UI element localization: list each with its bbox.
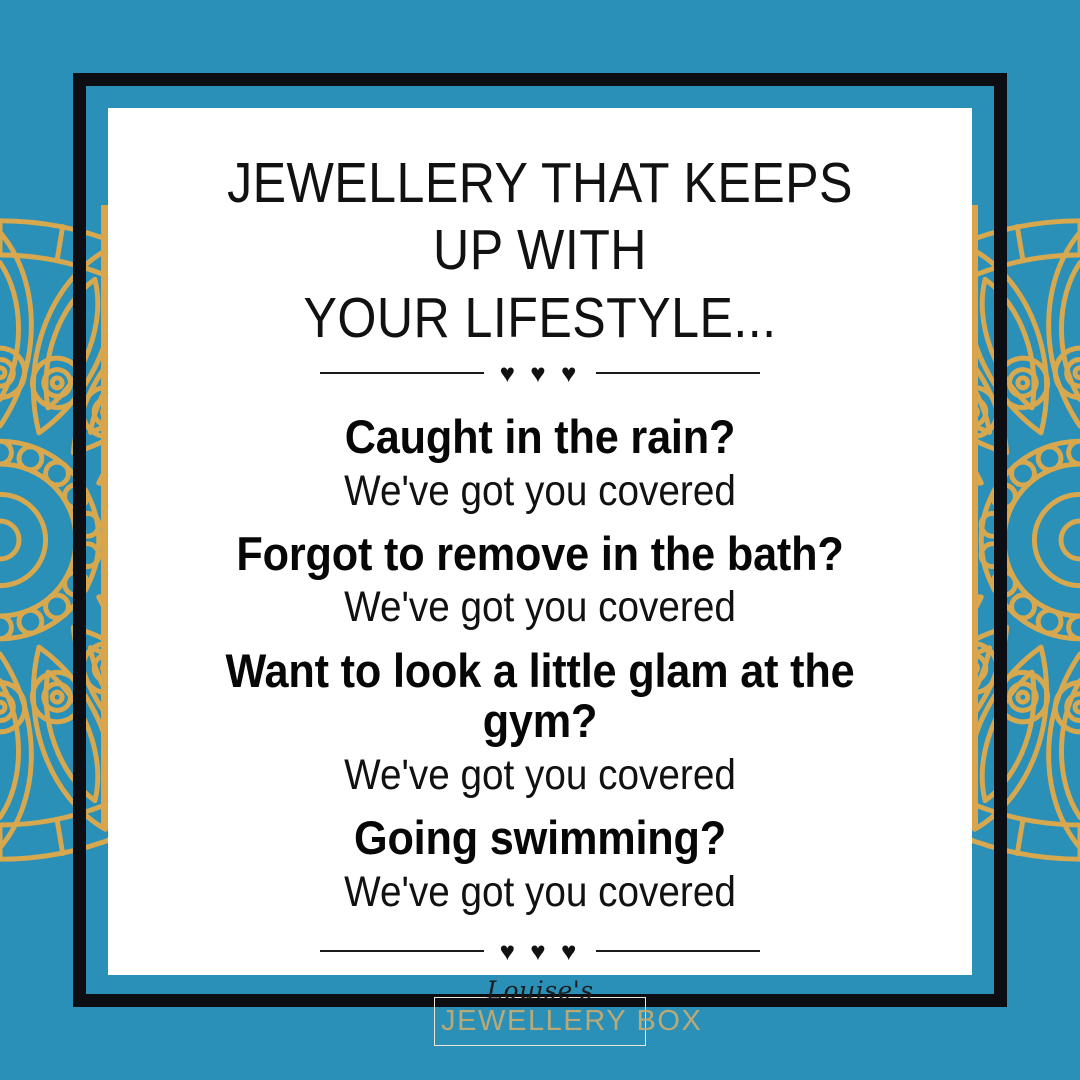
qa-list: Caught in the rain? We've got you covere… [152,412,928,916]
qa-item: Caught in the rain? We've got you covere… [152,412,928,515]
poster-canvas: JEWELLERY THAT KEEPS UP WITH YOUR LIFEST… [0,0,1080,1080]
divider-rule-left [320,372,484,374]
divider-rule-right [596,372,760,374]
qa-answer: We've got you covered [191,583,889,631]
qa-question: Going swimming? [183,813,897,864]
qa-answer: We've got you covered [191,751,889,799]
divider-rule-left [320,950,484,952]
heart-divider-bottom: ♥ ♥ ♥ [320,938,760,964]
content-card: JEWELLERY THAT KEEPS UP WITH YOUR LIFEST… [108,108,972,975]
qa-answer: We've got you covered [191,868,889,916]
qa-item: Forgot to remove in the bath? We've got … [152,529,928,632]
brand-logo: Louise's JEWELLERY BOX [434,974,646,1046]
page-title: JEWELLERY THAT KEEPS UP WITH YOUR LIFEST… [199,150,882,352]
heart-divider-top: ♥ ♥ ♥ [320,360,760,386]
brand-script-name: Louise's [434,978,646,1003]
brand-name: JEWELLERY BOX [441,1007,639,1036]
qa-answer: We've got you covered [191,467,889,515]
qa-item: Want to look a little glam at the gym? W… [152,646,928,800]
qa-question: Want to look a little glam at the gym? [183,646,897,748]
qa-question: Caught in the rain? [183,412,897,463]
heart-icon-group: ♥ ♥ ♥ [500,360,581,386]
heart-icon-group: ♥ ♥ ♥ [500,938,581,964]
qa-question: Forgot to remove in the bath? [183,529,897,580]
qa-item: Going swimming? We've got you covered [152,813,928,916]
divider-rule-right [596,950,760,952]
